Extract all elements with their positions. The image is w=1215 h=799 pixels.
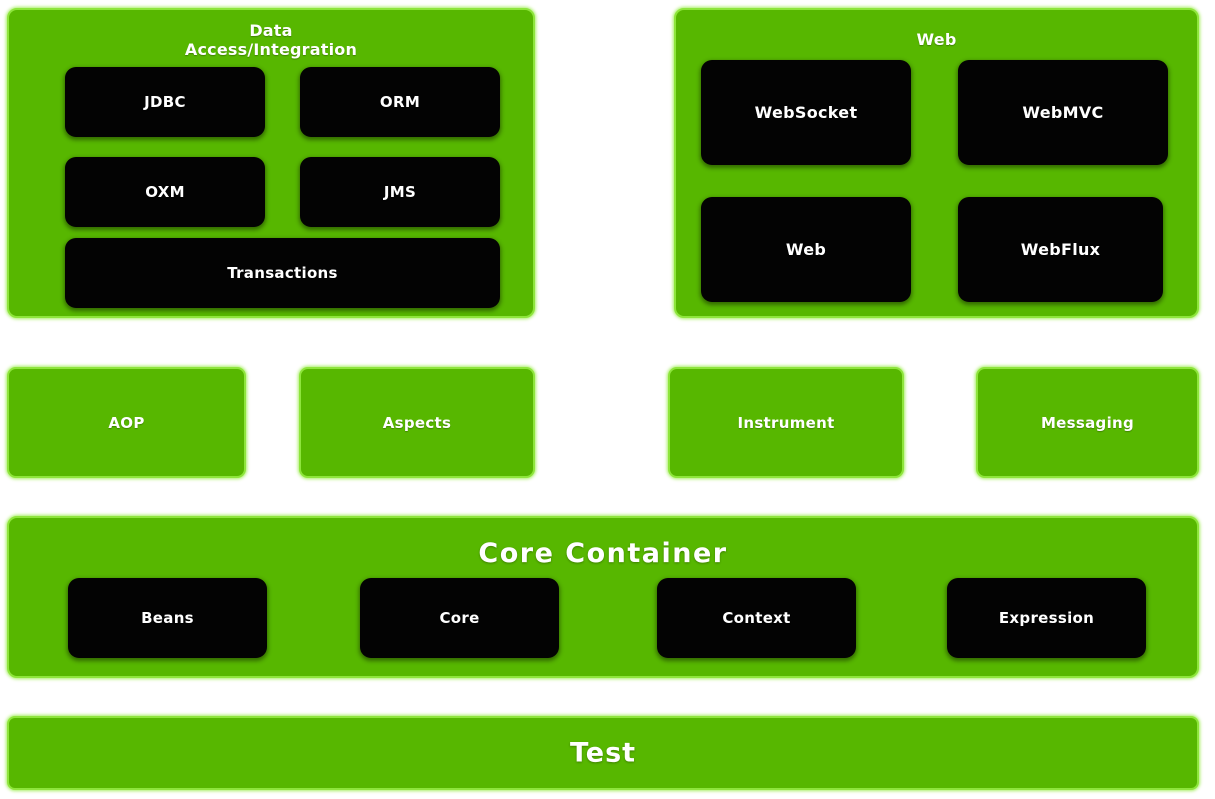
module-beans[interactable]: Beans: [68, 578, 267, 658]
module-label-webflux: WebFlux: [1021, 240, 1101, 259]
module-label-jdbc: JDBC: [144, 93, 186, 111]
module-web[interactable]: Web: [701, 197, 911, 302]
module-webflux[interactable]: WebFlux: [958, 197, 1163, 302]
block-label-aop: AOP: [9, 414, 244, 432]
panel-title-web: Web: [676, 30, 1197, 49]
panel-web: Web WebSocket WebMVC Web WebFlux: [674, 8, 1199, 318]
module-oxm[interactable]: OXM: [65, 157, 265, 227]
section-title-core-container: Core Container: [9, 538, 1197, 570]
module-label-webmvc: WebMVC: [1022, 103, 1103, 122]
module-label-beans: Beans: [141, 609, 194, 627]
panel-core-container: Core Container Beans Core Context Expres…: [7, 516, 1199, 678]
module-label-orm: ORM: [380, 93, 420, 111]
module-label-websocket: WebSocket: [755, 103, 858, 122]
module-jms[interactable]: JMS: [300, 157, 500, 227]
block-label-aspects: Aspects: [301, 414, 533, 432]
spring-framework-runtime-diagram: Data Access/Integration JDBC ORM OXM JMS…: [0, 0, 1215, 799]
module-orm[interactable]: ORM: [300, 67, 500, 137]
module-label-oxm: OXM: [145, 183, 185, 201]
bar-test[interactable]: Test: [7, 716, 1199, 790]
module-label-transactions: Transactions: [227, 264, 338, 282]
module-core[interactable]: Core: [360, 578, 559, 658]
block-aop[interactable]: AOP: [7, 367, 246, 478]
module-jdbc[interactable]: JDBC: [65, 67, 265, 137]
module-transactions[interactable]: Transactions: [65, 238, 500, 308]
module-context[interactable]: Context: [657, 578, 856, 658]
module-label-jms: JMS: [384, 183, 416, 201]
module-label-web: Web: [786, 240, 826, 259]
module-label-context: Context: [722, 609, 790, 627]
module-webmvc[interactable]: WebMVC: [958, 60, 1168, 165]
module-expression[interactable]: Expression: [947, 578, 1146, 658]
module-label-core: Core: [439, 609, 479, 627]
block-label-messaging: Messaging: [978, 414, 1197, 432]
module-label-expression: Expression: [999, 609, 1094, 627]
block-messaging[interactable]: Messaging: [976, 367, 1199, 478]
panel-data-access-integration: Data Access/Integration JDBC ORM OXM JMS…: [7, 8, 535, 318]
module-websocket[interactable]: WebSocket: [701, 60, 911, 165]
panel-title-data-access-integration: Data Access/Integration: [9, 21, 533, 59]
block-label-instrument: Instrument: [670, 414, 902, 432]
block-instrument[interactable]: Instrument: [668, 367, 904, 478]
bar-label-test: Test: [9, 738, 1197, 769]
block-aspects[interactable]: Aspects: [299, 367, 535, 478]
